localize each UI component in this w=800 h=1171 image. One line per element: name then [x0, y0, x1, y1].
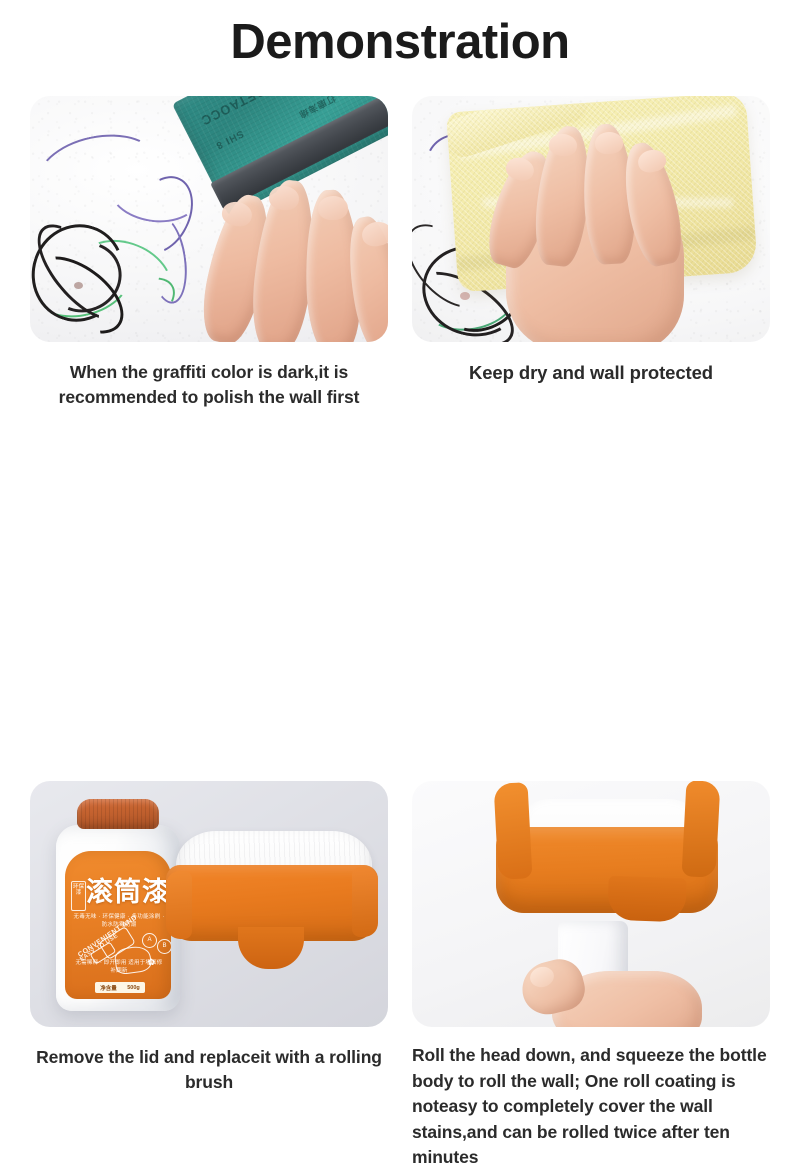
roller-head — [496, 799, 718, 949]
image-roller-in-hand — [412, 781, 770, 1027]
roller-arm-right — [352, 867, 378, 937]
paint-bottle: 环保漆 滚筒漆 无毒无味 · 环保健康 · 多功能涂刷 · 防水防霉防潮 CON… — [56, 799, 180, 1011]
label-brand-tag: 环保漆 — [71, 881, 86, 911]
roller-stem — [238, 927, 304, 969]
panel-caption: When the graffiti color is dark,it is re… — [30, 360, 388, 410]
hand — [194, 176, 388, 342]
roller-head — [166, 831, 378, 989]
image-wiping-cloth — [412, 96, 770, 342]
stain-dot — [74, 282, 83, 289]
bottle-cap — [77, 799, 159, 829]
demo-row-top: QETAOCC SHI 8 砂纸块 打磨海绵 — [0, 96, 800, 440]
roller-arm-right — [682, 781, 721, 878]
weight-value: 500g — [127, 985, 140, 991]
roller-arm-left — [494, 782, 533, 880]
demo-row-bottom: 环保漆 滚筒漆 无毒无味 · 环保健康 · 多功能涂刷 · 防水防霉防潮 CON… — [0, 440, 800, 760]
fingernail — [318, 195, 349, 220]
demonstration-infographic: Demonstration — [0, 0, 800, 800]
label-badge-a: A — [142, 933, 157, 948]
hand — [486, 122, 696, 342]
roller-stem — [607, 876, 686, 923]
panel-replace-lid: 环保漆 滚筒漆 无毒无味 · 环保健康 · 多功能涂刷 · 防水防霉防潮 CON… — [30, 781, 388, 1095]
panel-polish-wall: QETAOCC SHI 8 砂纸块 打磨海绵 — [30, 96, 388, 410]
product-label: 环保漆 滚筒漆 无毒无味 · 环保健康 · 多功能涂刷 · 防水防霉防潮 CON… — [65, 851, 171, 999]
panel-roll-wall: Roll the head down, and squeeze the bott… — [412, 781, 770, 1171]
label-product-name: 滚筒漆 — [86, 877, 170, 907]
flower-icon: ✿ — [147, 957, 155, 968]
sponge-print-line-4: 打磨海绵 — [296, 96, 338, 122]
hand — [522, 957, 712, 1027]
weight-label: 净含量 — [100, 984, 117, 992]
sponge-print-line-2: SHI 8 — [213, 128, 245, 151]
panel-caption: Remove the lid and replaceit with a roll… — [30, 1045, 388, 1095]
sponge-print-line-1: QETAOCC — [198, 96, 268, 129]
page-title: Demonstration — [0, 14, 800, 70]
demo-grid: QETAOCC SHI 8 砂纸块 打磨海绵 — [0, 96, 800, 760]
panel-caption: Keep dry and wall protected — [412, 360, 770, 385]
image-sanding-block: QETAOCC SHI 8 砂纸块 打磨海绵 — [30, 96, 388, 342]
label-weight-badge: 净含量 500g — [95, 982, 145, 993]
panel-wipe-dry: Keep dry and wall protected — [412, 96, 770, 385]
panel-caption: Roll the head down, and squeeze the bott… — [412, 1043, 770, 1171]
roller-arm-left — [166, 871, 192, 939]
image-bottle-and-roller: 环保漆 滚筒漆 无毒无味 · 环保健康 · 多功能涂刷 · 防水防霉防潮 CON… — [30, 781, 388, 1027]
stain-dot — [460, 292, 470, 300]
